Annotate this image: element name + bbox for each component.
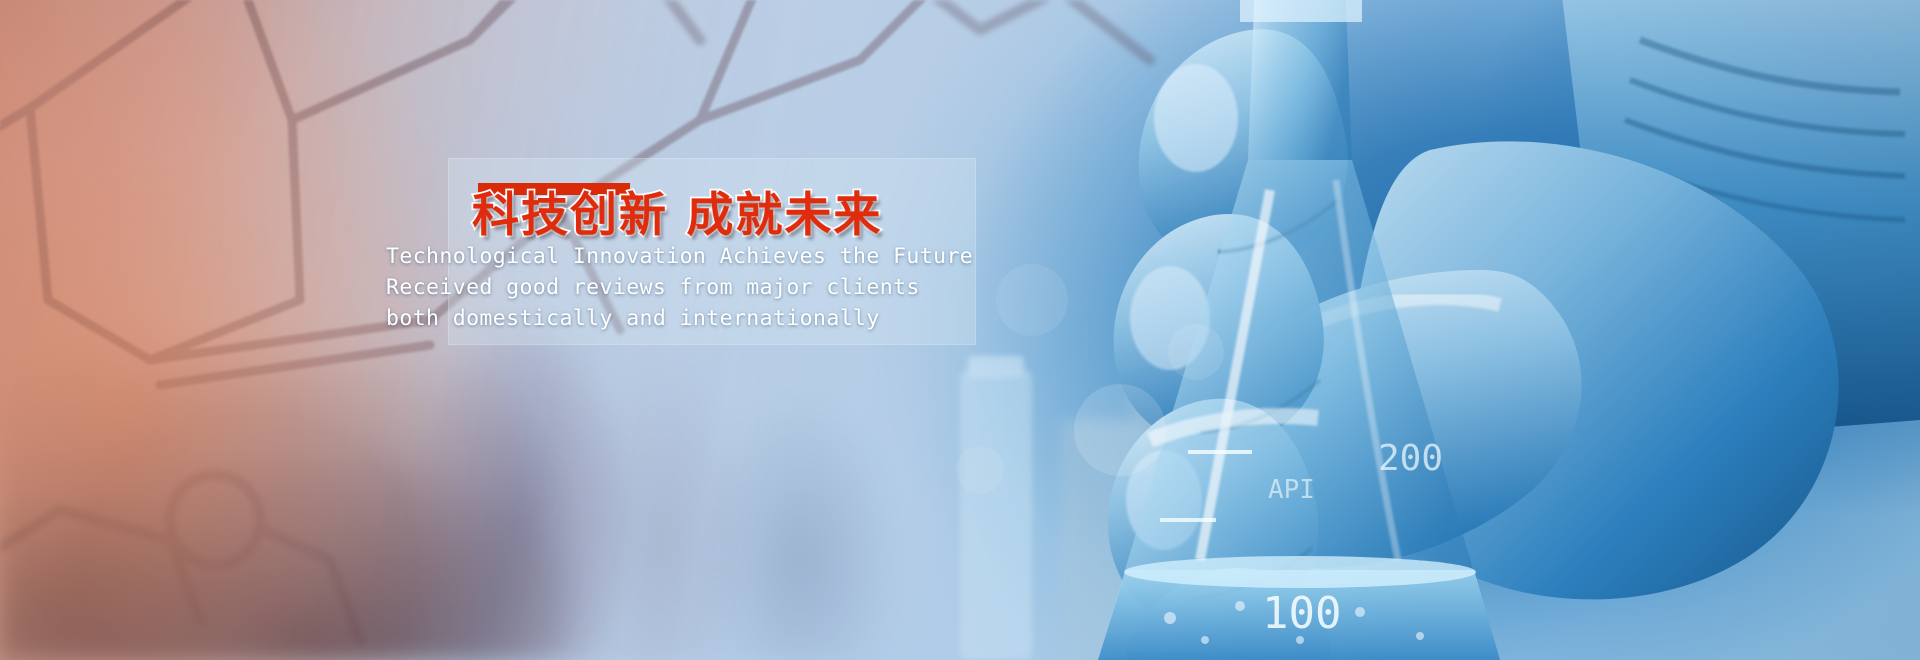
page-title: 科技创新 成就未来 (472, 176, 992, 245)
hero-subtitle-line-2: Received good reviews from major clients (386, 272, 966, 303)
hero-subtitle: Technological Innovation Achieves the Fu… (386, 241, 966, 334)
hero-subtitle-line-3: both domestically and internationally (386, 303, 966, 334)
hero-subtitle-line-1: Technological Innovation Achieves the Fu… (386, 241, 966, 272)
hero-banner: 200 API 100 (0, 0, 1920, 660)
